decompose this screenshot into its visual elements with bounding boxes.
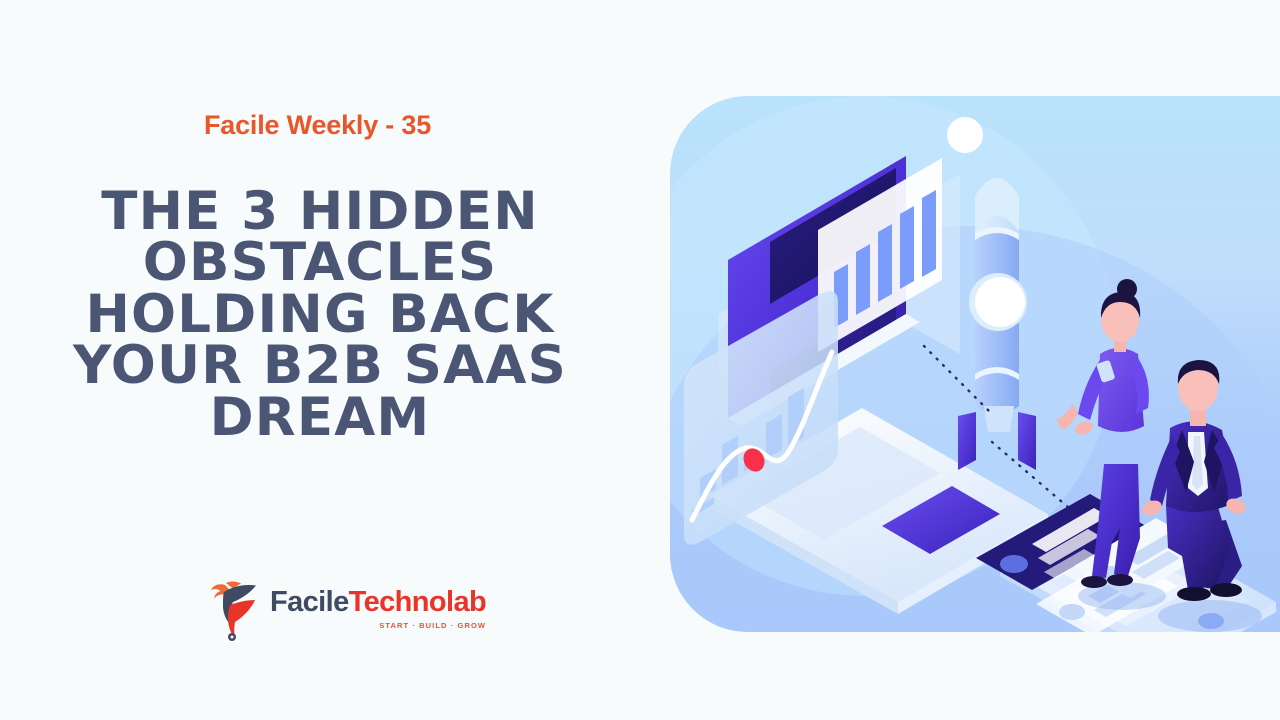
rocket-fin-right xyxy=(1018,412,1036,470)
brand-logo[interactable]: FacileTechnolab START · BUILD · GROW xyxy=(204,572,486,642)
logo-word-one: Facile xyxy=(270,586,349,618)
headline-line-5: Dream xyxy=(60,392,580,443)
headline-line-4: Your B2B SaaS xyxy=(60,340,580,391)
illustration-panel xyxy=(670,96,1280,632)
headline-line-2: Obstacles xyxy=(60,237,580,288)
facile-bird-icon xyxy=(204,572,260,642)
headline-line-3: Holding Back xyxy=(60,289,580,340)
text-column: Facile Weekly - 35 The 3 Hidden Obstacle… xyxy=(0,0,640,720)
headline-line-1: The 3 Hidden xyxy=(60,186,580,237)
page-title: The 3 Hidden Obstacles Holding Back Your… xyxy=(60,186,580,443)
issue-label: Facile Weekly - 35 xyxy=(204,110,431,141)
logo-word-two: Technolab xyxy=(349,586,486,618)
rocket-fin-left xyxy=(958,412,976,470)
moon-circle xyxy=(947,117,983,153)
logo-text: FacileTechnolab START · BUILD · GROW xyxy=(270,584,486,630)
logo-tagline: START · BUILD · GROW xyxy=(270,621,486,630)
logo-wordmark: FacileTechnolab xyxy=(270,586,486,618)
slide-canvas: Facile Weekly - 35 The 3 Hidden Obstacle… xyxy=(0,0,1280,720)
